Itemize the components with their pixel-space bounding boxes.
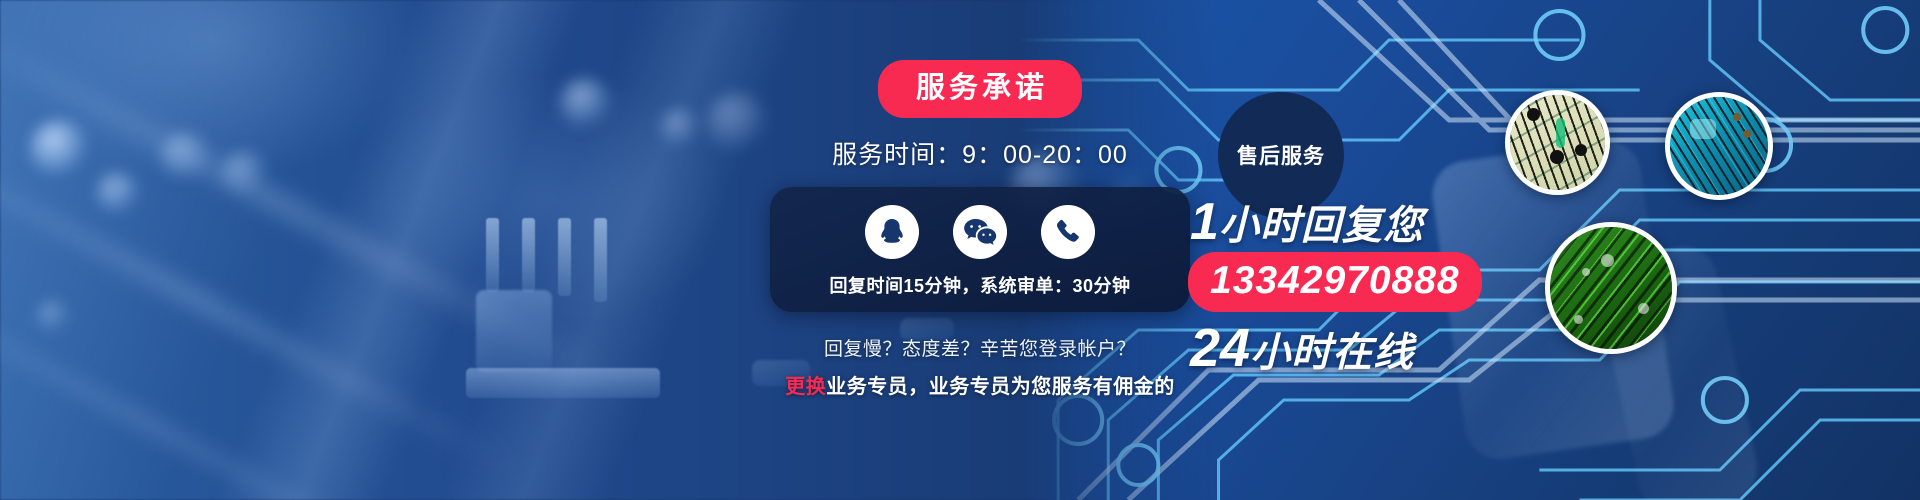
change-agent-highlight: 更换 (785, 376, 826, 398)
phone-number-bar[interactable]: 13342970888 (1188, 252, 1482, 312)
pcb-photo-green (1545, 222, 1677, 354)
reply-time-note: 回复时间15分钟，系统审单：30分钟 (780, 272, 1180, 298)
pcb-pad (1733, 113, 1741, 121)
pcb-solder-dot (1601, 254, 1614, 267)
service-time-text: 服务时间：9：00-20：00 (770, 135, 1190, 171)
bokeh-light (660, 108, 700, 148)
pcb-connector-base (466, 368, 660, 398)
pcb-green-texture (1550, 227, 1672, 349)
reply-hour-number: 1 (1190, 193, 1219, 251)
contact-card: 回复时间15分钟，系统审单：30分钟 (770, 187, 1190, 312)
change-agent-rest: 业务专员，业务专员为您服务有佣金的 (826, 376, 1175, 398)
wechat-icon[interactable] (953, 205, 1007, 259)
reply-hour-text: 小时回复您 (1219, 204, 1424, 248)
pcb-photo-cream (1505, 90, 1610, 195)
pcb-pad (1550, 150, 1564, 164)
contact-icon-row (780, 205, 1180, 259)
bokeh-light (560, 78, 612, 130)
pcb-pad (1743, 130, 1751, 138)
pcb-photo-cyan (1665, 92, 1773, 200)
pcb-solder-dot (1638, 303, 1649, 314)
pcb-pin (594, 218, 607, 302)
change-agent-line: 更换业务专员，业务专员为您服务有佣金的 (770, 370, 1190, 399)
pcb-highlight (1690, 119, 1716, 139)
pcb-pin (486, 218, 499, 292)
service-promise-banner: 服务承诺 服务时间：9：00-20：00 (0, 0, 1920, 500)
service-promise-pill: 服务承诺 (878, 60, 1082, 118)
reply-within-hour-line: 1小时回复您 (1190, 192, 1424, 252)
qq-icon[interactable] (865, 205, 919, 259)
pcb-pin (522, 218, 535, 292)
bokeh-light (30, 120, 88, 178)
online-hours-number: 24 (1190, 318, 1250, 378)
after-sales-badge-label: 售后服务 (1237, 140, 1325, 170)
center-content: 服务承诺 服务时间：9：00-20：00 (770, 60, 1190, 399)
phone-number: 13342970888 (1210, 259, 1460, 302)
pcb-cyan-texture (1670, 97, 1768, 195)
pcb-pin (558, 218, 571, 296)
bokeh-light (96, 172, 140, 216)
bokeh-light (36, 300, 70, 334)
pcb-via (1556, 118, 1565, 148)
phone-icon[interactable] (1041, 205, 1095, 259)
complaint-question: 回复慢？态度差？辛苦您登录帐户？ (770, 334, 1190, 361)
bokeh-light (706, 92, 768, 154)
online-24h-line: 24小时在线 (1190, 317, 1414, 379)
pcb-capacitor (476, 290, 552, 372)
pcb-pad (1575, 144, 1587, 156)
online-hours-text: 小时在线 (1250, 331, 1414, 375)
